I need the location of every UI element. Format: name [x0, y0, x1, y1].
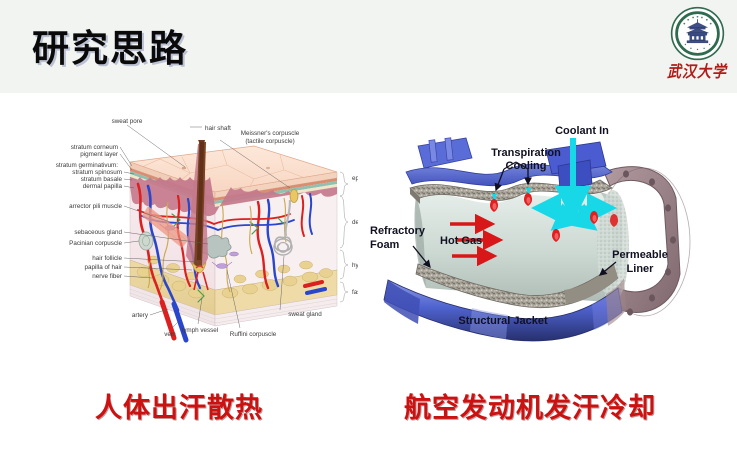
university-seal-icon [670, 6, 725, 61]
label-arrector-pili-muscle: arrector pili muscle [69, 203, 122, 210]
university-wordmark: 武汉大学 [664, 60, 730, 83]
label-permeable: Permeable [612, 249, 668, 261]
caption-human-sweating: 人体出汗散热 [95, 386, 263, 425]
wuhan-university-logo: 武汉大学 [664, 6, 730, 92]
label-cooling: Cooling [506, 160, 547, 172]
label-transpiration: Transpiration [491, 147, 561, 159]
meissner-corpuscle [290, 190, 298, 203]
label-sebaceous-gland: sebaceous gland [74, 229, 122, 236]
label-dermal-papilla: dermal papilla [83, 183, 123, 190]
label-stratum-germinativum: stratum germinativum: [56, 162, 119, 169]
label-stratum-spinosum: stratum spinosum [72, 169, 122, 176]
label-ruffini-corpuscle: Ruffini corpuscle [230, 331, 277, 338]
label-liner: Liner [627, 263, 655, 275]
label-pacinian-corpuscle: Pacinian corpuscle [69, 240, 122, 247]
label-sweat-gland: sweat gland [288, 311, 322, 318]
engine-transpiration-cooling-figure: Transpiration Cooling Coolant In Refract… [368, 112, 718, 348]
label-hot-gas: Hot Gas [440, 235, 482, 247]
label-hypodermis: hypodermis [352, 262, 358, 269]
pacinian-corpuscle [139, 232, 153, 250]
label-vein: vein [164, 331, 176, 338]
label-artery: artery [132, 312, 149, 319]
label-epidermis: epidermis [352, 175, 358, 182]
label-papilla-of-hair: papilla of hair [85, 264, 122, 271]
label-refractory: Refractory [370, 225, 426, 237]
label-coolant-in: Coolant In [555, 125, 609, 137]
label-hair-follicle: hair follicle [92, 255, 122, 262]
label-meissner-corpuscle: Meissner's corpuscle [241, 130, 300, 137]
skin-cross-section-figure: sweat pore hair shaft Meissner's corpusc… [22, 110, 358, 348]
label-nerve-fiber: nerve fiber [92, 273, 122, 280]
caption-engine-transpiration-cooling: 航空发动机发汗冷却 [404, 386, 656, 425]
label-fascia: fascia [352, 289, 358, 296]
label-hair-shaft: hair shaft [205, 125, 231, 132]
label-meissner-corpuscle-alt: (tactile corpuscle) [245, 138, 294, 145]
label-pigment-layer: pigment layer [80, 151, 118, 158]
page-title: 研究思路 [32, 18, 188, 72]
label-stratum-basale: stratum basale [81, 176, 123, 183]
label-dermis: dermis [352, 219, 358, 226]
label-foam: Foam [370, 239, 400, 251]
label-stratum-corneum: stratum corneum [71, 144, 118, 151]
label-lymph-vessel: lymph vessel [182, 327, 218, 334]
label-sweat-pore: sweat pore [112, 118, 143, 125]
label-structural-jacket: Structural Jacket [458, 315, 548, 327]
